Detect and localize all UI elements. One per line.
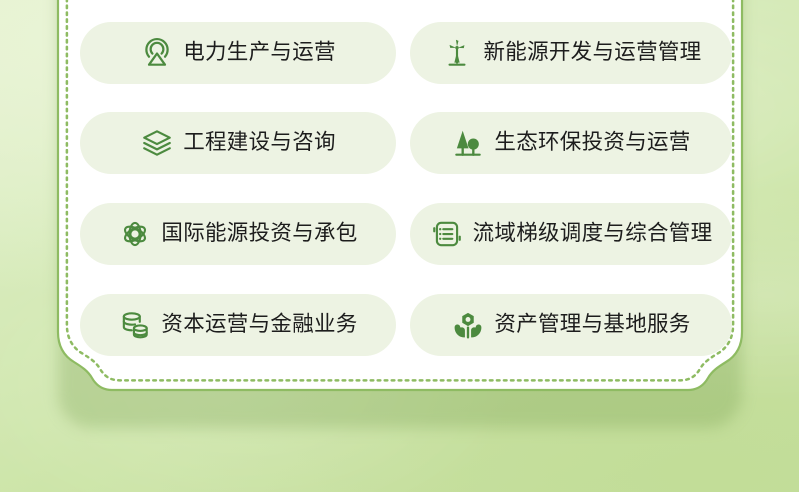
wind-turbine-icon [440,36,474,70]
business-area-item-eco-environment[interactable]: 生态环保投资与运营 [410,112,732,174]
business-area-label: 新能源开发与运营管理 [483,42,701,64]
document-list-icon [430,217,464,251]
business-area-label: 工程建设与咨询 [183,132,336,154]
business-area-item-engineering[interactable]: 工程建设与咨询 [80,112,396,174]
power-generation-icon [140,36,174,70]
asset-sprout-icon [451,308,485,342]
business-area-label: 资本运营与金融业务 [161,314,357,336]
eco-tree-icon [451,126,485,160]
business-area-item-basin-dispatch[interactable]: 流域梯级调度与综合管理 [410,203,732,265]
business-area-label: 国际能源投资与承包 [161,223,357,245]
layers-icon [140,126,174,160]
business-area-grid: 电力生产与运营 工程建设与咨询 [80,22,732,370]
business-area-label: 资产管理与基地服务 [494,314,690,336]
business-area-label: 生态环保投资与运营 [494,132,690,154]
page-root: 电力生产与运营 工程建设与咨询 [0,0,799,492]
business-area-item-power-generation[interactable]: 电力生产与运营 [80,22,396,84]
business-area-item-new-energy[interactable]: 新能源开发与运营管理 [410,22,732,84]
business-area-label: 流域梯级调度与综合管理 [473,223,713,245]
business-area-label: 电力生产与运营 [183,42,336,64]
business-area-item-capital-finance[interactable]: 资本运营与金融业务 [80,294,396,356]
atom-icon [118,217,152,251]
business-area-item-asset-management[interactable]: 资产管理与基地服务 [410,294,732,356]
business-area-item-international-energy[interactable]: 国际能源投资与承包 [80,203,396,265]
coins-stack-icon [118,308,152,342]
